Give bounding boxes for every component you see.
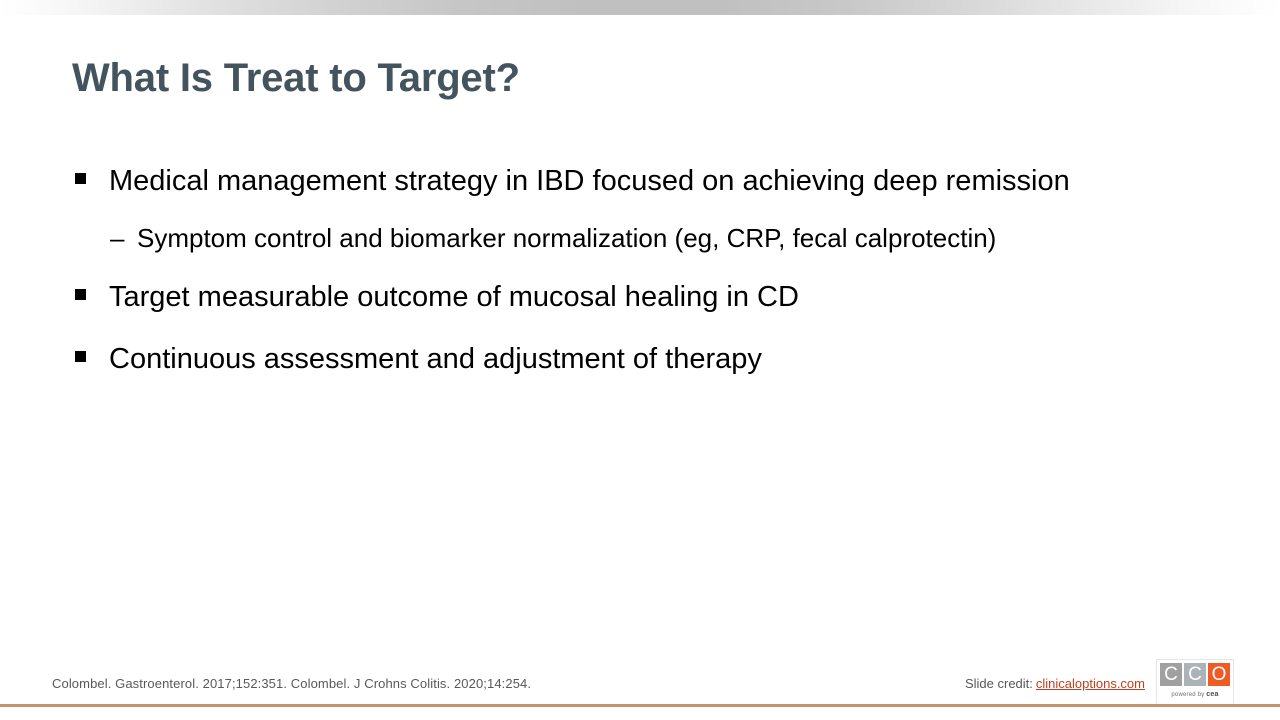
list-item: – Symptom control and biomarker normaliz… [110, 218, 1232, 258]
square-bullet-icon [72, 338, 109, 380]
list-item: Continuous assessment and adjustment of … [72, 338, 1232, 380]
list-item-text: Symptom control and biomarker normalizat… [137, 218, 1232, 258]
list-item: Medical management strategy in IBD focus… [72, 160, 1232, 202]
cco-logo-squares: C C O [1157, 660, 1233, 686]
en-dash-bullet-icon: – [110, 218, 137, 258]
square-bullet-icon [72, 160, 109, 202]
list-item: Target measurable outcome of mucosal hea… [72, 276, 1232, 318]
list-item-text: Medical management strategy in IBD focus… [109, 160, 1232, 202]
cco-tagline-brand: cea [1206, 691, 1218, 698]
slide-credit-label: Slide credit: [965, 676, 1033, 691]
clinicaloptions-link[interactable]: clinicaloptions.com [1036, 676, 1145, 691]
cco-letter-c2: C [1184, 663, 1206, 686]
cco-logo: C C O powered by cea [1156, 659, 1234, 705]
list-item-text: Target measurable outcome of mucosal hea… [109, 276, 1232, 318]
footer-accent-rule [0, 704, 1280, 707]
cco-letter-c1: C [1160, 663, 1182, 686]
cco-letter-o: O [1208, 663, 1230, 686]
slide-canvas: What Is Treat to Target? Medical managem… [0, 0, 1280, 720]
citation-text: Colombel. Gastroenterol. 2017;152:351. C… [52, 676, 531, 691]
page-title: What Is Treat to Target? [72, 55, 1212, 101]
slide-credit: Slide credit:clinicaloptions.com [965, 676, 1145, 691]
square-bullet-icon [72, 276, 109, 318]
cco-tagline: powered by cea [1157, 691, 1233, 698]
list-item-text: Continuous assessment and adjustment of … [109, 338, 1232, 380]
bullet-list: Medical management strategy in IBD focus… [72, 160, 1232, 386]
top-gradient-bar [0, 0, 1280, 15]
cco-tagline-prefix: powered by [1171, 692, 1206, 698]
